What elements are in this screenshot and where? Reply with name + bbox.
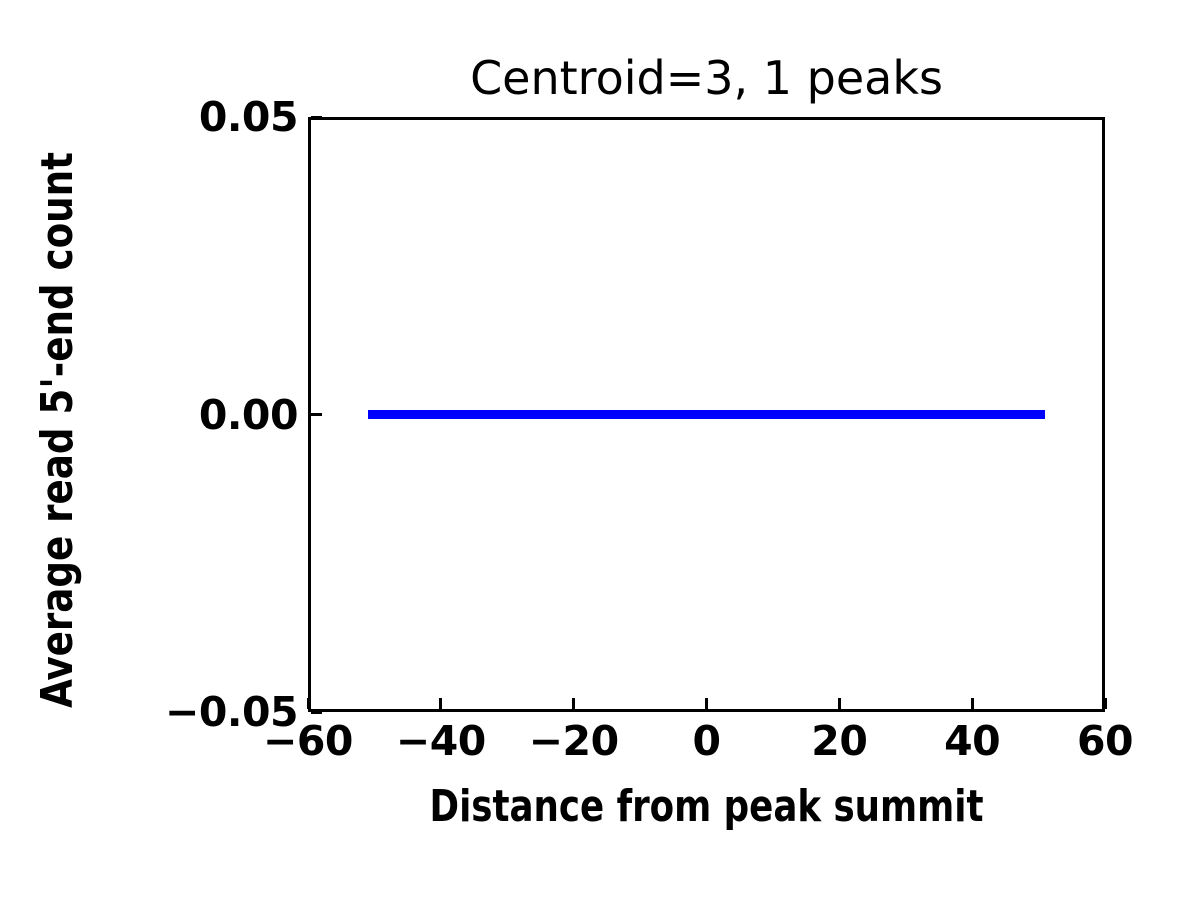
x-tick-label-6: 60 [1077, 718, 1133, 764]
y-tick-label-0: −0.05 [0, 689, 298, 735]
y-tick-0 [311, 711, 322, 714]
plot-area [308, 117, 1105, 712]
x-tick-4 [838, 698, 841, 709]
x-tick-0 [307, 698, 310, 709]
x-tick-2 [572, 698, 575, 709]
x-tick-label-3: 0 [692, 718, 720, 764]
x-tick-3 [705, 698, 708, 709]
x-tick-6 [1104, 698, 1107, 709]
chart-figure: Centroid=3, 1 peaks Distance from peak s… [0, 0, 1200, 900]
plot-inner [311, 120, 1102, 709]
x-tick-5 [971, 698, 974, 709]
x-tick-label-5: 40 [944, 718, 1000, 764]
x-tick-label-4: 20 [811, 718, 867, 764]
y-tick-1 [311, 413, 322, 416]
chart-title: Centroid=3, 1 peaks [308, 52, 1105, 104]
data-line-0 [368, 410, 1045, 419]
x-axis-label: Distance from peak summit [258, 782, 1155, 832]
y-tick-2 [311, 116, 322, 119]
x-tick-label-1: −40 [396, 718, 486, 764]
x-tick-label-2: −20 [529, 718, 619, 764]
x-tick-1 [439, 698, 442, 709]
y-tick-label-2: 0.05 [0, 94, 298, 140]
y-tick-label-1: 0.00 [0, 392, 298, 438]
